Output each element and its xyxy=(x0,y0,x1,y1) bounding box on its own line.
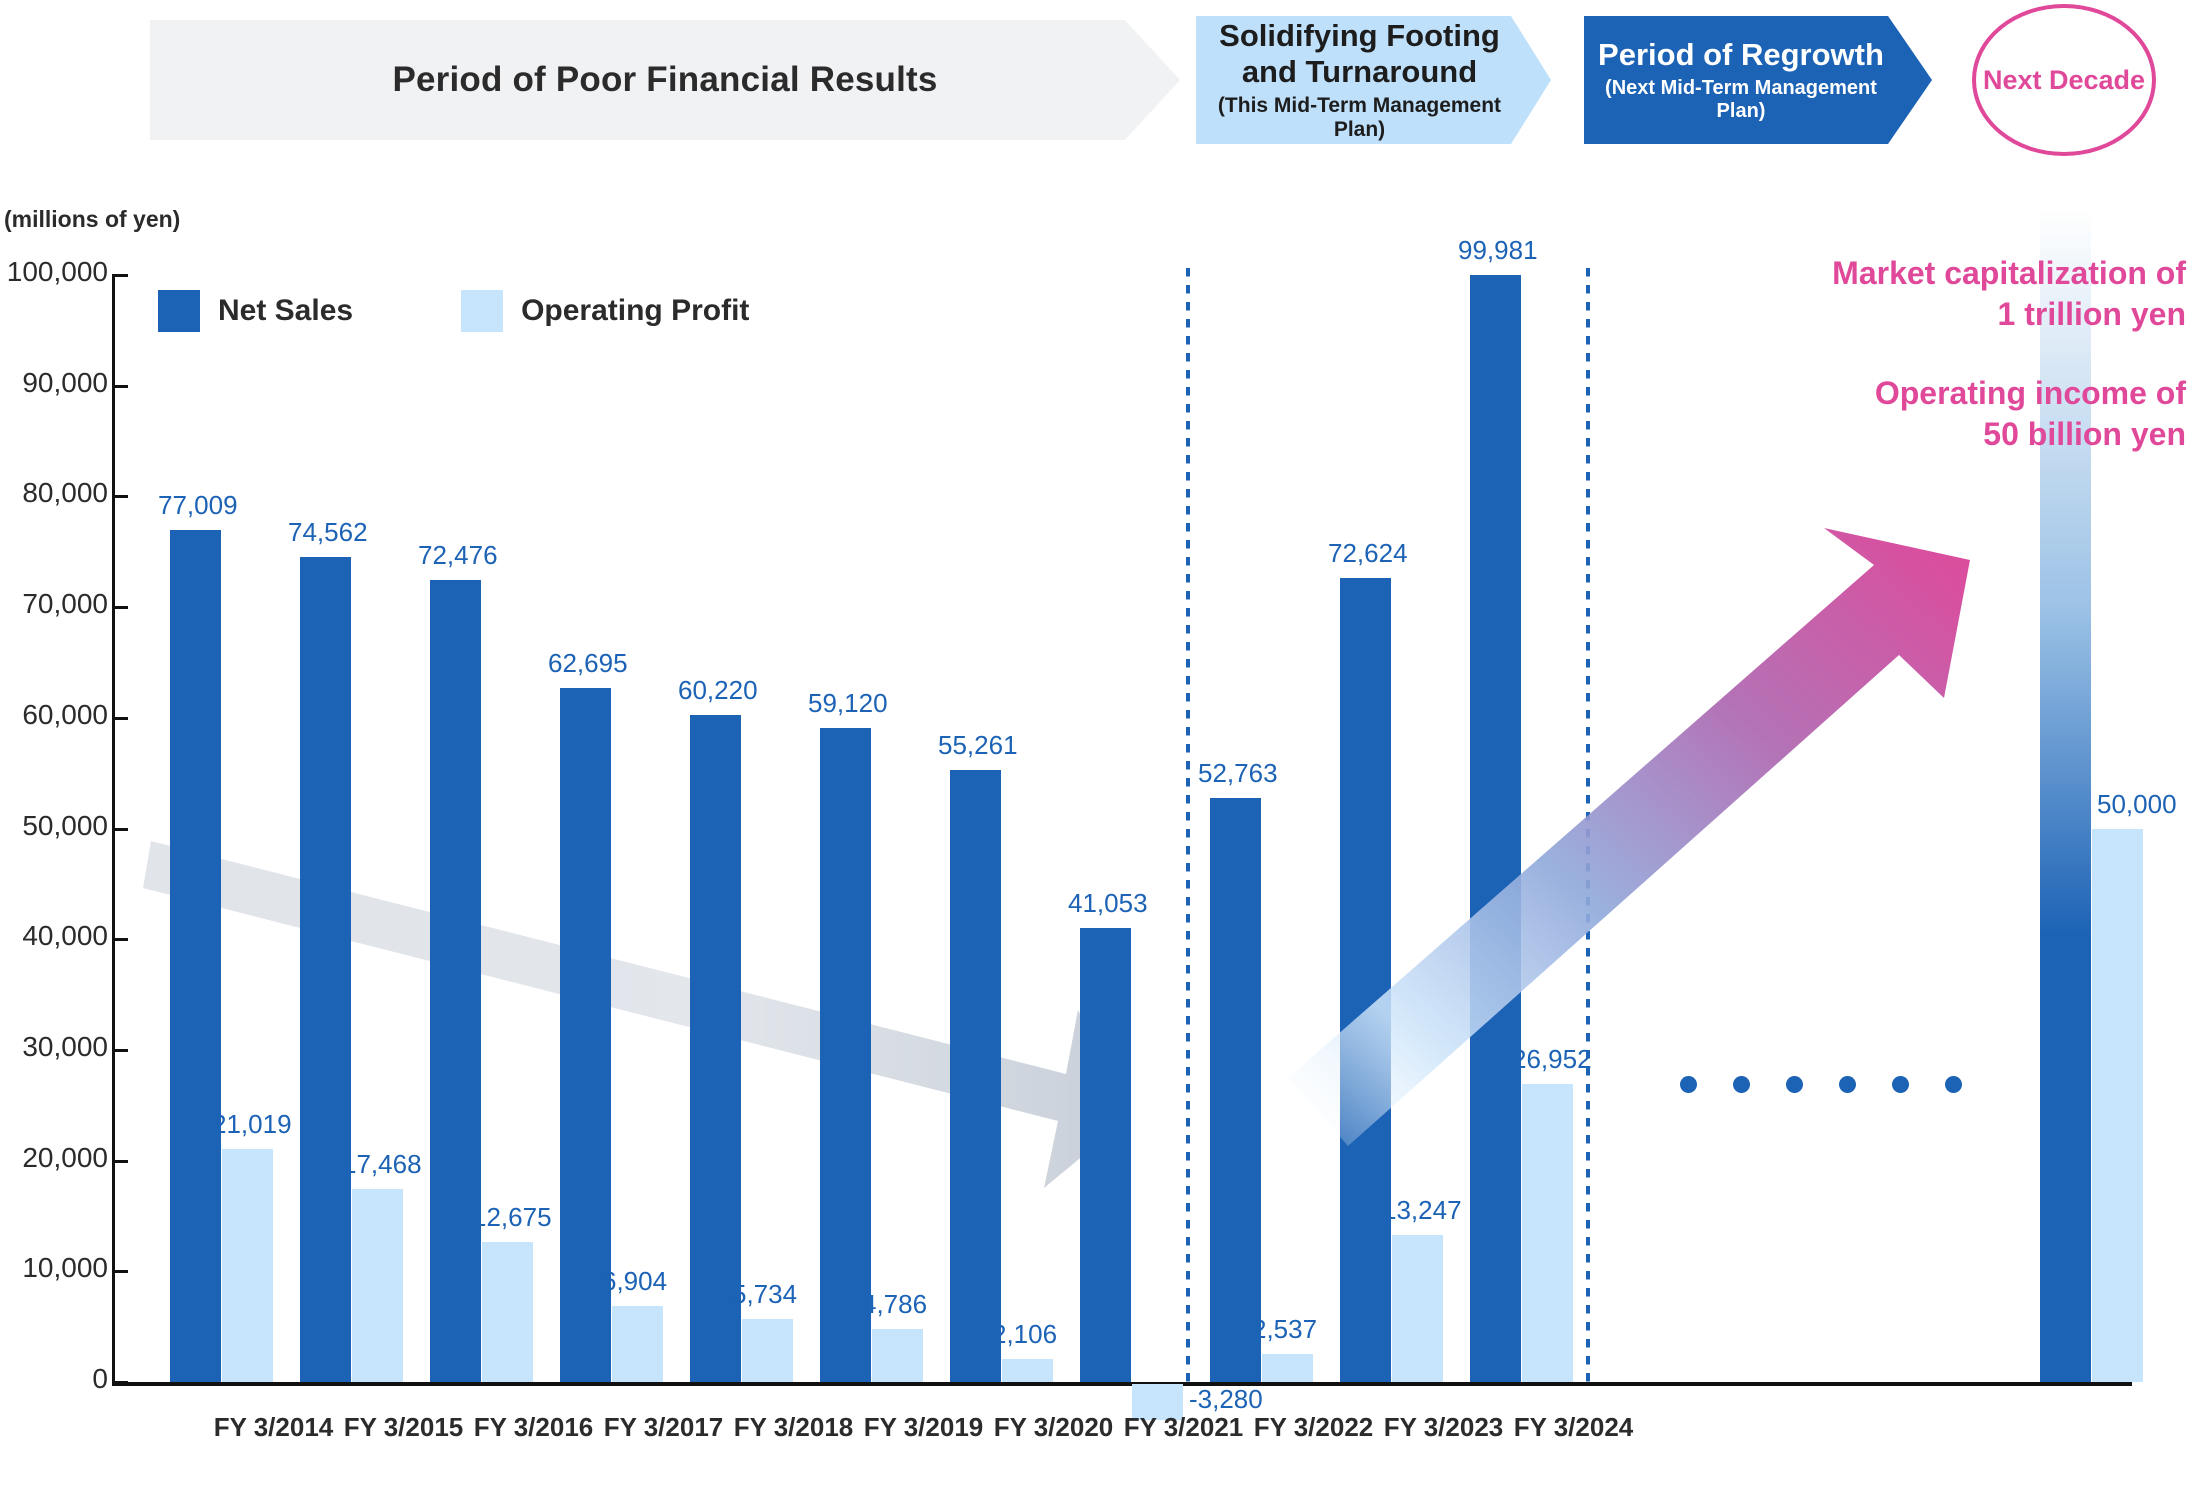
value-label-net-sales-4: 62,695 xyxy=(548,648,628,679)
bar-net-sales-2 xyxy=(300,557,351,1382)
value-label-net-sales-1: 77,009 xyxy=(158,490,238,521)
value-label-operating-profit-9: 2,537 xyxy=(1252,1314,1317,1345)
bar-net-sales-11 xyxy=(1470,275,1521,1382)
value-label-net-sales-11: 99,981 xyxy=(1458,235,1538,266)
y-tick-20000 xyxy=(112,1160,128,1163)
ellipsis-dot-2 xyxy=(1733,1076,1750,1093)
legend-label-net-sales: Net Sales xyxy=(218,294,353,328)
value-label-net-sales-8: 41,053 xyxy=(1068,888,1148,919)
chart-legend: Net Sales Operating Profit xyxy=(158,290,749,332)
value-label-net-sales-10: 72,624 xyxy=(1328,538,1408,569)
bar-net-sales-10 xyxy=(1340,578,1391,1382)
bar-operating-profit-3 xyxy=(482,1242,533,1382)
value-label-net-sales-5: 60,220 xyxy=(678,675,758,706)
bar-operating-profit-10 xyxy=(1392,1235,1443,1382)
bar-net-sales-6 xyxy=(820,728,871,1382)
y-tick-label-60000: 60,000 xyxy=(0,699,108,731)
y-tick-label-70000: 70,000 xyxy=(0,588,108,620)
bar-operating-profit-4 xyxy=(612,1306,663,1382)
value-label-net-sales-9: 52,763 xyxy=(1198,758,1278,789)
bar-operating-profit-7 xyxy=(1002,1359,1053,1382)
bar-operating-profit-2 xyxy=(352,1189,403,1382)
legend-swatch-operating-profit xyxy=(461,290,503,332)
legend-item-net-sales: Net Sales xyxy=(158,290,353,332)
y-tick-label-80000: 80,000 xyxy=(0,477,108,509)
bar-operating-profit-11 xyxy=(1522,1084,1573,1382)
goal-operating-income: Operating income of 50 billion yen xyxy=(1566,373,2186,455)
y-tick-90000 xyxy=(112,385,128,388)
y-tick-label-30000: 30,000 xyxy=(0,1031,108,1063)
x-axis-line xyxy=(112,1382,2132,1386)
y-tick-80000 xyxy=(112,495,128,498)
ellipsis-dot-4 xyxy=(1839,1076,1856,1093)
value-label-operating-profit-7: 2,106 xyxy=(992,1319,1057,1350)
value-label-net-sales-2: 74,562 xyxy=(288,517,368,548)
value-label-operating-profit-3: 12,675 xyxy=(472,1202,552,1233)
legend-label-operating-profit: Operating Profit xyxy=(521,294,749,328)
y-tick-label-40000: 40,000 xyxy=(0,920,108,952)
bar-net-sales-1 xyxy=(170,530,221,1382)
bar-net-sales-9 xyxy=(1210,798,1261,1382)
value-label-operating-profit-6: 4,786 xyxy=(862,1289,927,1320)
bar-operating-profit-6 xyxy=(872,1329,923,1382)
goal-market-capitalization: Market capitalization of 1 trillion yen xyxy=(1566,253,2186,335)
value-label-operating-profit-1: 21,019 xyxy=(212,1109,292,1140)
value-label-operating-profit-4: 6,904 xyxy=(602,1266,667,1297)
value-label-operating-profit-2: 17,468 xyxy=(342,1149,422,1180)
ellipsis-dot-6 xyxy=(1945,1076,1962,1093)
value-label-net-sales-3: 72,476 xyxy=(418,540,498,571)
bar-net-sales-3 xyxy=(430,580,481,1382)
bar-net-sales-7 xyxy=(950,770,1001,1382)
y-tick-60000 xyxy=(112,717,128,720)
value-label-operating-profit-target: 50,000 xyxy=(2097,789,2177,820)
y-tick-label-0: 0 xyxy=(0,1363,108,1395)
y-tick-label-100000: 100,000 xyxy=(0,256,108,288)
bar-operating-profit-1 xyxy=(222,1149,273,1382)
value-label-operating-profit-11: 26,952 xyxy=(1512,1044,1592,1075)
ellipsis-dot-1 xyxy=(1680,1076,1697,1093)
ellipsis-dot-5 xyxy=(1892,1076,1909,1093)
value-label-net-sales-7: 55,261 xyxy=(938,730,1018,761)
legend-item-operating-profit: Operating Profit xyxy=(461,290,749,332)
value-label-operating-profit-5: 5,734 xyxy=(732,1279,797,1310)
y-tick-10000 xyxy=(112,1270,128,1273)
legend-swatch-net-sales xyxy=(158,290,200,332)
divider-this-plan-start xyxy=(1186,268,1190,1386)
y-tick-50000 xyxy=(112,828,128,831)
bar-operating-profit-5 xyxy=(742,1319,793,1382)
y-tick-70000 xyxy=(112,606,128,609)
y-tick-30000 xyxy=(112,1049,128,1052)
y-tick-40000 xyxy=(112,938,128,941)
bar-operating-profit-target xyxy=(2092,829,2143,1383)
ellipsis-dots xyxy=(1680,1076,1970,1096)
y-tick-label-90000: 90,000 xyxy=(0,367,108,399)
plot-area: 010,00020,00030,00040,00050,00060,00070,… xyxy=(0,0,2200,1488)
y-tick-label-20000: 20,000 xyxy=(0,1142,108,1174)
x-axis-label-11: FY 3/2024 xyxy=(1494,1412,1654,1443)
bar-operating-profit-9 xyxy=(1262,1354,1313,1382)
y-tick-label-10000: 10,000 xyxy=(0,1252,108,1284)
ellipsis-dot-3 xyxy=(1786,1076,1803,1093)
bar-net-sales-8 xyxy=(1080,928,1131,1382)
y-tick-100000 xyxy=(112,274,128,277)
y-tick-label-50000: 50,000 xyxy=(0,810,108,842)
value-label-operating-profit-8: -3,280 xyxy=(1189,1384,1263,1415)
y-tick-0 xyxy=(112,1381,128,1384)
chart-page: Period of Poor Financial Results Solidif… xyxy=(0,0,2200,1488)
value-label-operating-profit-10: 13,247 xyxy=(1382,1195,1462,1226)
value-label-net-sales-6: 59,120 xyxy=(808,688,888,719)
